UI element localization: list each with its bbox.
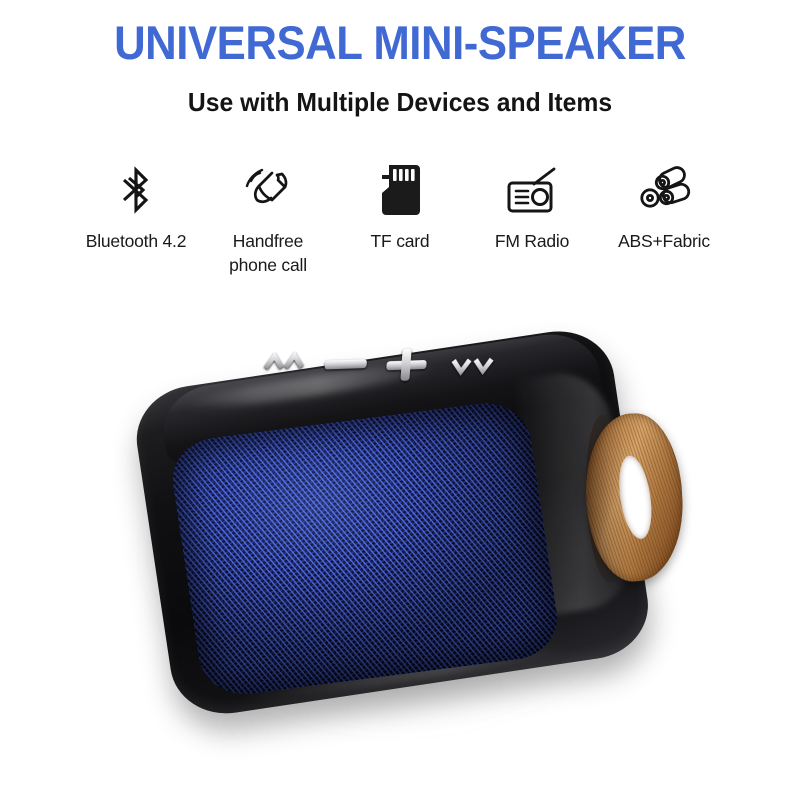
phone-handset-icon: [242, 162, 294, 218]
previous-track-button[interactable]: [261, 345, 309, 373]
feature-item-handfree: Handfree phone call: [202, 162, 334, 277]
header-block: UNIVERSAL MINI-SPEAKER Use with Multiple…: [0, 0, 800, 118]
volume-down-button[interactable]: [323, 357, 368, 373]
carry-strap: [583, 411, 686, 583]
strap-shading: [583, 414, 630, 584]
grille-vignette: [167, 398, 562, 699]
feature-label-fm-radio: FM Radio: [495, 230, 569, 254]
feature-item-bluetooth: Bluetooth 4.2: [70, 162, 202, 254]
feature-label-handfree: Handfree phone call: [214, 230, 322, 277]
volume-up-button[interactable]: [384, 347, 428, 383]
fabric-rolls-icon: [637, 162, 691, 218]
feature-label-tf-card: TF card: [371, 230, 430, 254]
speaker-body: [127, 305, 676, 747]
tf-card-icon: [378, 162, 422, 218]
feature-item-fm-radio: FM Radio: [466, 162, 598, 254]
page-subtitle: Use with Multiple Devices and Items: [20, 87, 780, 118]
feature-item-tf-card: TF card: [334, 162, 466, 254]
fm-radio-icon: [504, 162, 560, 218]
page-title: UNIVERSAL MINI-SPEAKER: [28, 18, 772, 67]
product-image: [0, 312, 800, 800]
speaker-controls: [259, 337, 553, 405]
next-track-button[interactable]: [448, 354, 512, 384]
bluetooth-icon: [118, 162, 154, 218]
feature-list: Bluetooth 4.2 Handfree phone call: [0, 162, 800, 277]
feature-item-abs-fabric: ABS+Fabric: [598, 162, 730, 254]
feature-label-bluetooth: Bluetooth 4.2: [86, 230, 187, 254]
speaker-grille: [167, 398, 562, 699]
feature-label-abs-fabric: ABS+Fabric: [618, 230, 710, 254]
